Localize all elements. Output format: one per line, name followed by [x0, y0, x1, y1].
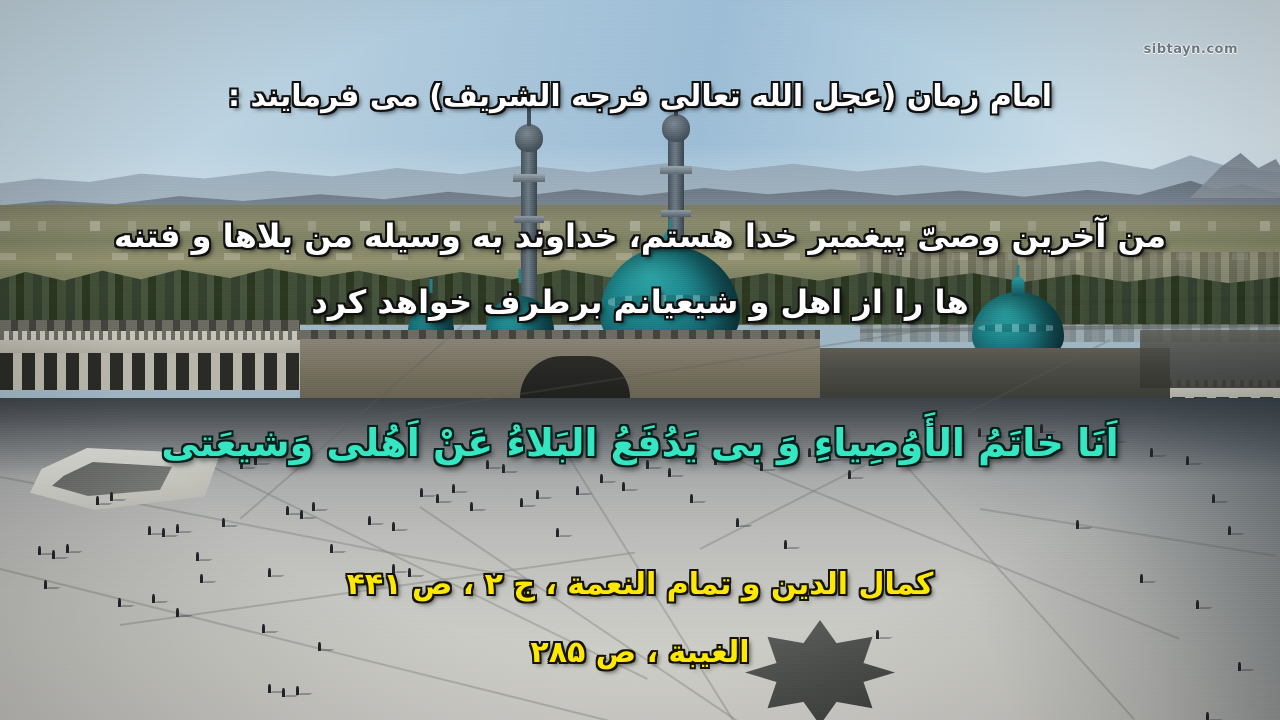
text-overlay: sibtayn.com امام زمان (عجل الله تعالی فر…	[0, 0, 1280, 720]
slide-canvas: sibtayn.com امام زمان (عجل الله تعالی فر…	[0, 0, 1280, 720]
intro-attribution-line: امام زمان (عجل الله تعالی فرجه الشریف) م…	[0, 78, 1280, 116]
hadith-translation-line-2: ها را از اهل و شیعیانم برطرف خواهد کرد	[0, 282, 1280, 322]
hadith-arabic-text: اَنَا خاتَمُ الأَوُصِياءِ وَ بی يَدُفَعُ…	[0, 420, 1280, 468]
hadith-translation-line-1: من آخرین وصیّ پیغمبر خدا هستم، خداوند به…	[0, 216, 1280, 256]
citation-line-2: الغیبة ، ص ۲۸۵	[0, 634, 1280, 672]
citation-line-1: کمال الدین و تمام النعمة ، ج ۲ ، ص ۴۴۱	[0, 566, 1280, 604]
watermark: sibtayn.com	[1144, 42, 1238, 57]
